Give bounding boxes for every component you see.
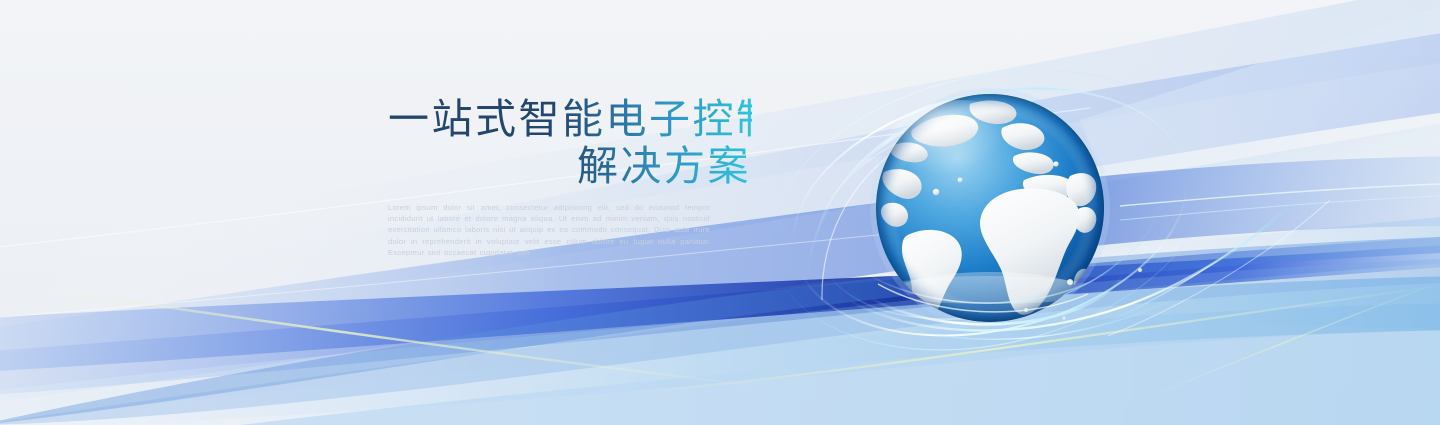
earth-globe (874, 84, 1106, 336)
hero-banner: 一站式智能电子控制 解决方案 Lorem ipsum dolor sit ame… (0, 0, 1440, 425)
hero-copy: 一站式智能电子控制 解决方案 Lorem ipsum dolor sit ame… (388, 96, 752, 266)
body-paragraph: Lorem ipsum dolor sit amet, consectetur … (388, 202, 710, 258)
headline-line-2: 解决方案 (388, 143, 752, 190)
headline-line-1: 一站式智能电子控制 (388, 96, 752, 143)
